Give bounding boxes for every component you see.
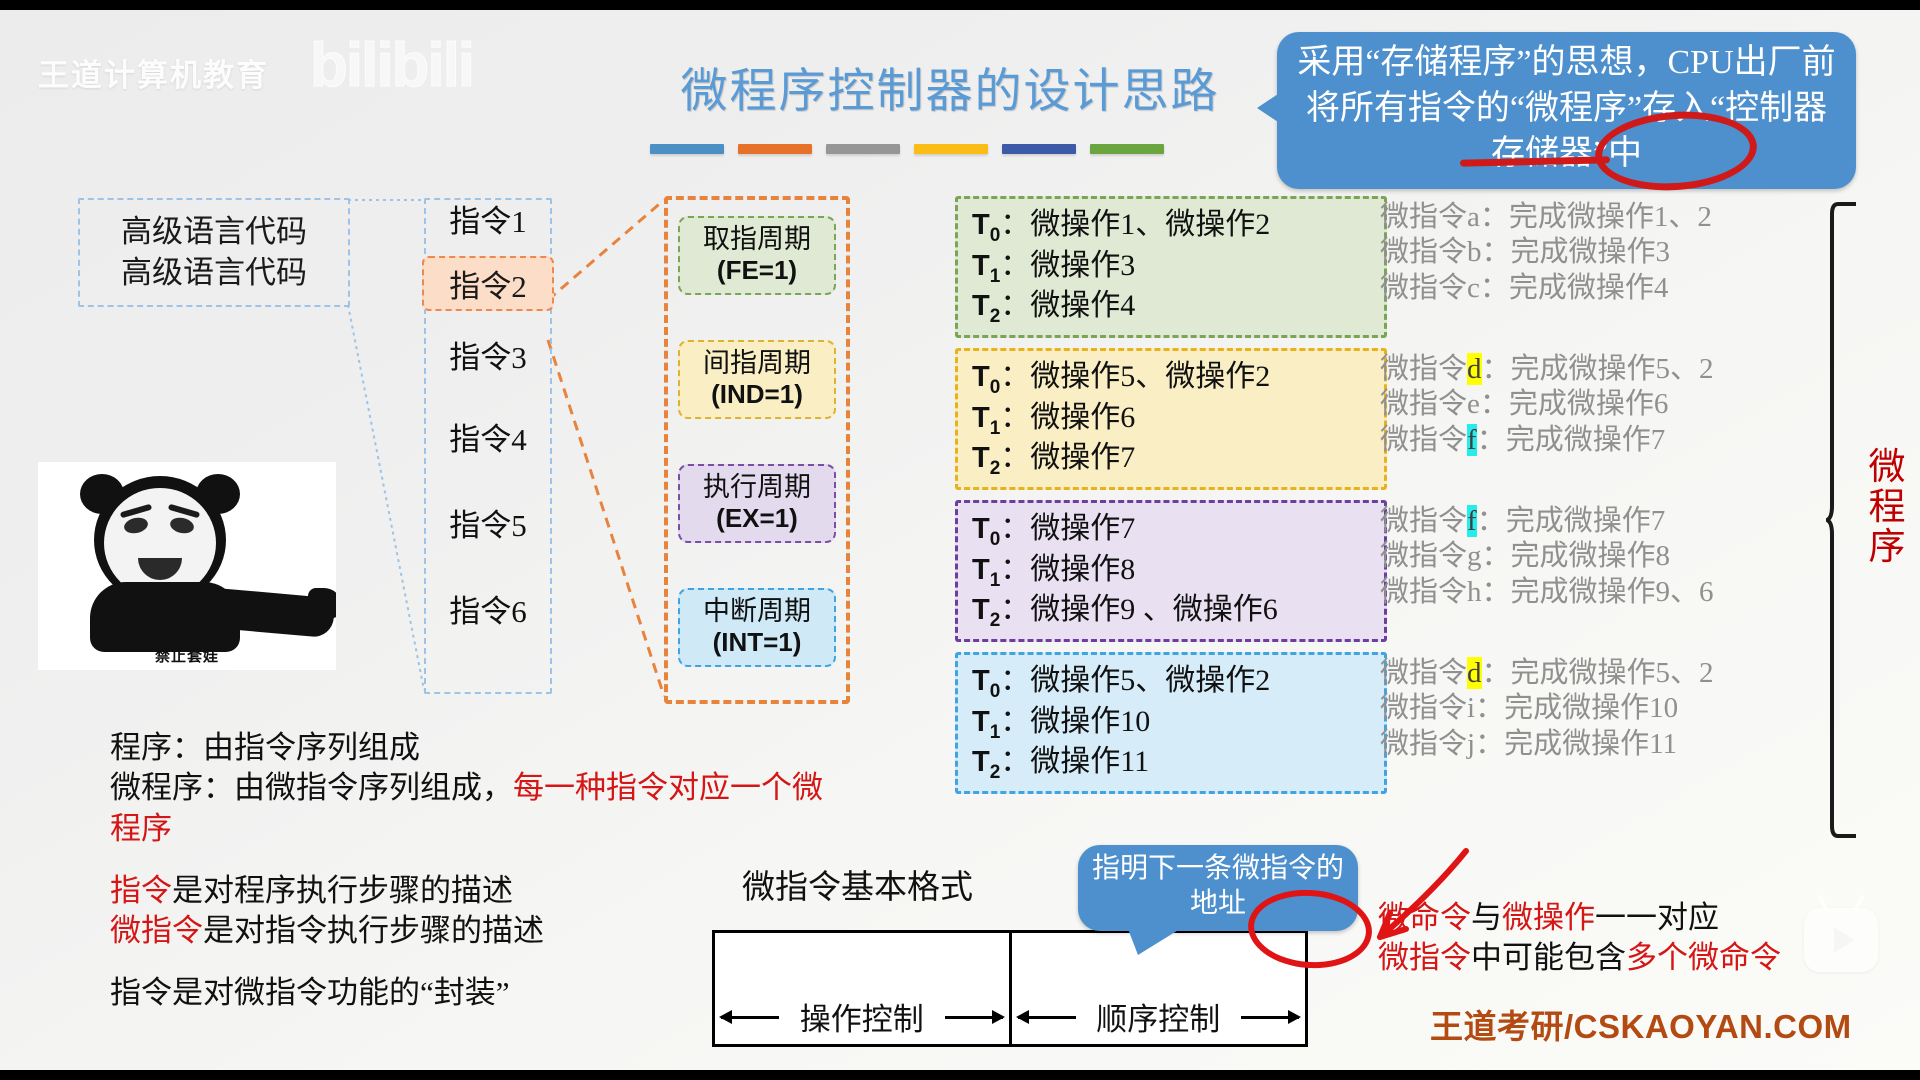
notes-line-1: 微命令与微操作一一对应 [1378, 898, 1898, 938]
micro-instruction-line: 微指令a：完成微操作1、2 [1380, 200, 1810, 235]
micro-instruction-group-0: 微指令a：完成微操作1、2 微指令b：完成微操作3 微指令c：完成微操作4 [1380, 200, 1810, 306]
instruction-item-4[interactable]: 指令4 [426, 414, 550, 459]
highlight-yellow: d [1467, 657, 1482, 689]
microprogram-label-char-1: 程 [1866, 488, 1908, 528]
cycle-indirect-name: 间指周期 [680, 348, 834, 379]
arrow-left-icon [1018, 1016, 1076, 1019]
micro-instruction-line: 微指令e：完成微操作6 [1380, 387, 1810, 422]
callout-tail [1128, 929, 1180, 955]
t-row: T0：微操作1、微操作2 [972, 207, 1384, 248]
callout-storage-program: 采用“存储程序”的思想，CPU出厂前将所有指令的“微程序”存入“控制器存储器”中 [1277, 32, 1856, 189]
micro-instruction-group-1: 微指令d：完成微操作5、2 微指令e：完成微操作6 微指令f：完成微操作7 [1380, 352, 1810, 458]
micro-instruction-line: 微指令b：完成微操作3 [1380, 235, 1810, 270]
t-block-execute: T0：微操作7 T1：微操作8 T2：微操作9 、微操作6 [955, 500, 1387, 642]
t-row: T0：微操作7 [972, 511, 1384, 552]
t-block-interrupt: T0：微操作5、微操作2 T1：微操作10 T2：微操作11 [955, 652, 1387, 794]
panda-meme-caption: 禁止套娃 [38, 645, 336, 666]
format-title: 微指令基本格式 [742, 860, 973, 908]
format-cell-operation [715, 933, 1012, 991]
microprogram-label-char-2: 序 [1866, 528, 1908, 568]
micro-instruction-line: 微指令c：完成微操作4 [1380, 271, 1810, 306]
instruction-item-6[interactable]: 指令6 [426, 586, 550, 631]
accent-bar-5 [1090, 144, 1164, 154]
highlight-cyan: f [1467, 424, 1477, 456]
micro-instruction-group-2: 微指令f：完成微操作7 微指令g：完成微操作8 微指令h：完成微操作9、6 [1380, 504, 1810, 610]
cycle-execute: 执行周期 (EX=1) [678, 464, 836, 543]
accent-bar-2 [826, 144, 900, 154]
instruction-list-box: 指令1 指令2 指令3 指令4 指令5 指令6 [424, 198, 552, 694]
t-row: T1：微操作8 [972, 552, 1384, 593]
prose-line-2: 微程序：由微指令序列组成，每一种指令对应一个微程序 [110, 768, 830, 849]
slide-canvas: 王道计算机教育 bilibili 微程序控制器的设计思路 采用“存储程序”的思想… [0, 0, 1920, 1080]
t-block-fetch: T0：微操作1、微操作2 T1：微操作3 T2：微操作4 [955, 196, 1387, 338]
letterbox-top [0, 0, 1920, 10]
accent-bar-4 [1002, 144, 1076, 154]
arrow-right-icon [1241, 1016, 1299, 1019]
highlight-yellow: d [1467, 353, 1482, 385]
micro-instruction-line: 微指令d：完成微操作5、2 [1380, 656, 1810, 691]
cycle-interrupt-flag: (INT=1) [680, 627, 834, 657]
t-row: T2：微操作9 、微操作6 [972, 592, 1384, 633]
micro-instruction-line: 微指令g：完成微操作8 [1380, 539, 1810, 574]
t-row: T2：微操作4 [972, 288, 1384, 329]
arrow-right-icon [945, 1016, 1003, 1019]
micro-instruction-line: 微指令f：完成微操作7 [1380, 423, 1810, 458]
format-legend-sequence: 顺序控制 [1012, 988, 1306, 1044]
high-level-code-box: 高级语言代码 高级语言代码 [78, 198, 350, 307]
instruction-item-5[interactable]: 指令5 [426, 500, 550, 545]
accent-bar-1 [738, 144, 812, 154]
highlight-cyan: f [1467, 505, 1477, 537]
cycle-fetch-flag: (FE=1) [680, 255, 834, 285]
instruction-item-2-highlighted[interactable]: 指令2 [422, 256, 554, 311]
callout-next-address: 指明下一条微指令的地址 [1078, 845, 1358, 931]
t-row: T2：微操作7 [972, 440, 1384, 481]
t-row: T0：微操作5、微操作2 [972, 359, 1384, 400]
format-legend: 操作控制 顺序控制 [712, 988, 1308, 1047]
cycle-indirect-flag: (IND=1) [680, 379, 834, 409]
notes-block: 微命令与微操作一一对应 微指令中可能包含多个微命令 [1378, 898, 1898, 977]
micro-instruction-line: 微指令j：完成微操作11 [1380, 727, 1810, 762]
format-table [712, 930, 1308, 994]
cycle-execute-flag: (EX=1) [680, 503, 834, 533]
notes-line-2: 微指令中可能包含多个微命令 [1378, 938, 1898, 978]
accent-bar-3 [914, 144, 988, 154]
cycle-fetch: 取指周期 (FE=1) [678, 216, 836, 295]
accent-bar-0 [650, 144, 724, 154]
high-level-code-line-0: 高级语言代码 [121, 212, 307, 253]
microprogram-label: 微 程 序 [1866, 448, 1908, 568]
title-accent-bars [650, 144, 1164, 154]
cycle-execute-name: 执行周期 [680, 472, 834, 503]
brand-text: 王道考研/CSKAOYAN.COM [1430, 1000, 1852, 1048]
cycle-indirect: 间指周期 (IND=1) [678, 340, 836, 419]
micro-instruction-line: 微指令h：完成微操作9、6 [1380, 575, 1810, 610]
cycle-fetch-name: 取指周期 [680, 224, 834, 255]
t-row: T2：微操作11 [972, 744, 1384, 785]
panda-meme-image: 禁止套娃 [38, 462, 336, 670]
bilibili-logo-watermark: bilibili [310, 30, 473, 101]
instruction-item-1[interactable]: 指令1 [426, 196, 550, 241]
instruction-cycle-box: 取指周期 (FE=1) 间指周期 (IND=1) 执行周期 (EX=1) 中断周… [664, 196, 850, 704]
instruction-item-3[interactable]: 指令3 [426, 332, 550, 377]
micro-instruction-group-3: 微指令d：完成微操作5、2 微指令i：完成微操作10 微指令j：完成微操作11 [1380, 656, 1810, 762]
page-title: 微程序控制器的设计思路 [640, 52, 1260, 121]
high-level-code-line-1: 高级语言代码 [121, 253, 307, 294]
microprogram-label-char-0: 微 [1866, 448, 1908, 488]
micro-instruction-line: 微指令f：完成微操作7 [1380, 504, 1810, 539]
arrow-left-icon [721, 1016, 779, 1019]
watermark-text: 王道计算机教育 [38, 50, 269, 95]
microprogram-bracket [1826, 200, 1860, 840]
t-row: T0：微操作5、微操作2 [972, 663, 1384, 704]
cycle-interrupt-name: 中断周期 [680, 596, 834, 627]
callout-tail [1257, 92, 1281, 124]
format-legend-operation: 操作控制 [715, 988, 1012, 1044]
t-block-indirect: T0：微操作5、微操作2 T1：微操作6 T2：微操作7 [955, 348, 1387, 490]
cycle-interrupt: 中断周期 (INT=1) [678, 588, 836, 667]
micro-instruction-line: 微指令i：完成微操作10 [1380, 691, 1810, 726]
t-row: T1：微操作10 [972, 704, 1384, 745]
t-row: T1：微操作3 [972, 248, 1384, 289]
prose-line-3: 指令是对程序执行步骤的描述 [110, 871, 830, 911]
prose-line-1: 程序：由指令序列组成 [110, 728, 830, 768]
micro-instruction-line: 微指令d：完成微操作5、2 [1380, 352, 1810, 387]
t-row: T1：微操作6 [972, 400, 1384, 441]
letterbox-bottom [0, 1070, 1920, 1080]
